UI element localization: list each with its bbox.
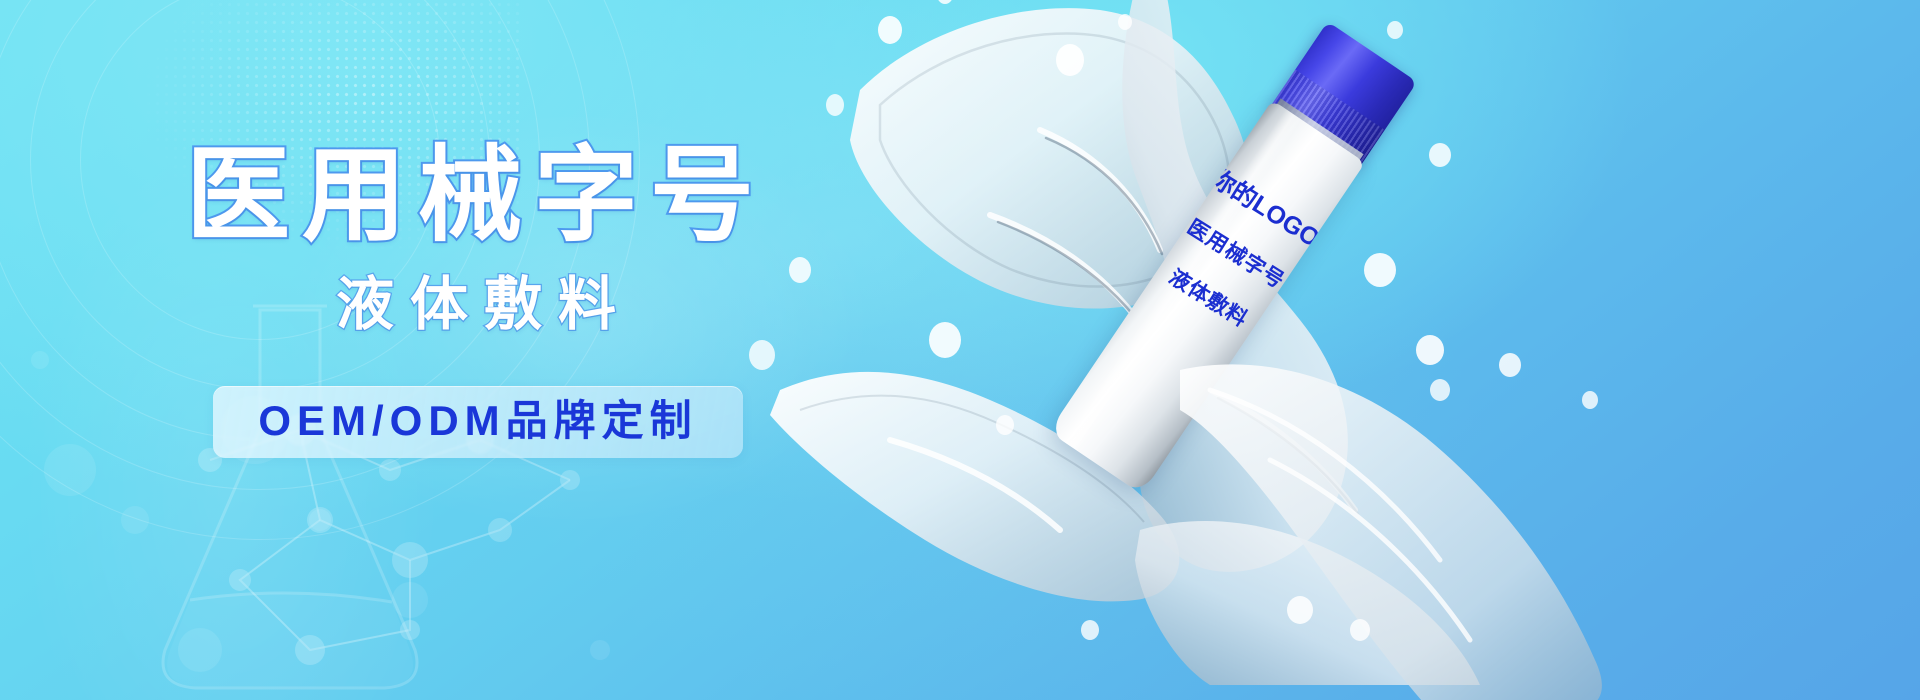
banner-copy: 医用械字号 液体敷料 OEM/ODM品牌定制 [186,138,886,458]
banner-subtitle: 液体敷料 [336,270,886,340]
promo-banner: 你的LOGO 医用械字号 液体敷料 医用械字号 液 [0,0,1920,700]
water-splash-right [1180,330,1920,700]
oem-odm-cta-label: OEM/ODM品牌定制 [258,400,697,442]
oem-odm-cta-button[interactable]: OEM/ODM品牌定制 [213,386,743,458]
page-title: 医用械字号 [186,138,886,254]
bottle-label: 你的LOGO 医用械字号 液体敷料 [1154,162,1323,340]
